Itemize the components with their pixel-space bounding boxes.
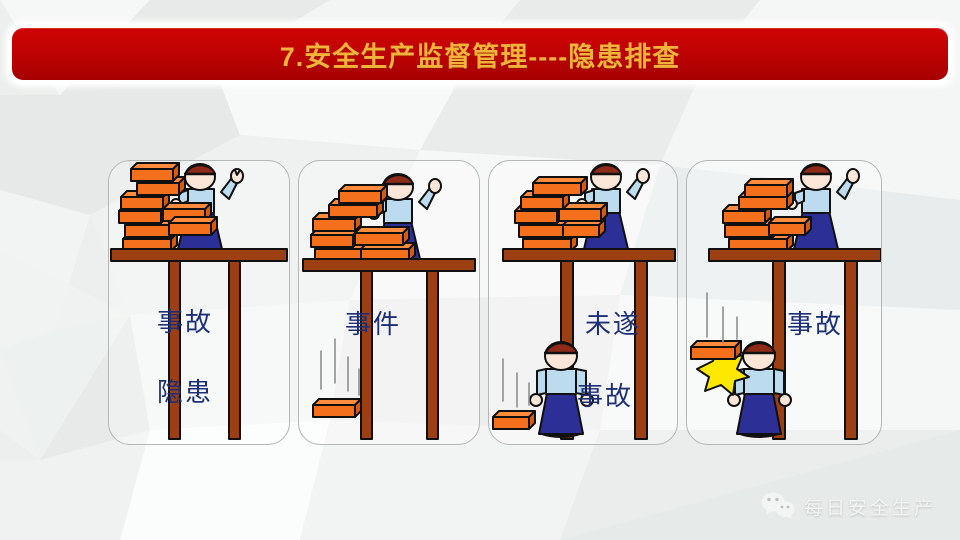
- page-title: 7.安全生产监督管理----隐患排查: [280, 35, 680, 74]
- falling-brick: [691, 341, 741, 359]
- title-banner: 7.安全生产监督管理----隐患排查: [8, 24, 952, 84]
- caption-accident: 事故: [787, 311, 843, 337]
- worker-on-table: [787, 164, 859, 253]
- falling-brick: [493, 411, 535, 429]
- caption-near-miss-line1: 未遂: [585, 311, 641, 337]
- motion-lines: [503, 359, 529, 407]
- wechat-icon: [761, 492, 795, 520]
- panel-hazard[interactable]: 事故 隐患: [108, 160, 290, 445]
- panel-near-miss[interactable]: 未遂 事故: [488, 160, 678, 445]
- panel-row: 事故 隐患: [0, 160, 960, 445]
- motion-lines: [707, 293, 737, 343]
- caption-incident: 事件: [345, 311, 401, 337]
- caption-near-miss-line2: 事故: [577, 383, 633, 409]
- panel-incident[interactable]: 事件: [298, 160, 480, 445]
- motion-lines: [321, 339, 359, 395]
- falling-brick: [313, 399, 361, 417]
- watermark-label: 每日安全生产: [804, 493, 936, 520]
- panel-accident[interactable]: 事故: [686, 160, 882, 445]
- watermark: 每日安全生产: [761, 492, 936, 520]
- caption-hazard-line1: 事故: [157, 309, 213, 335]
- illustration-accident: [687, 161, 881, 444]
- caption-hazard-line2: 隐患: [157, 379, 213, 405]
- title-banner-inner: 7.安全生产监督管理----隐患排查: [12, 28, 948, 80]
- illustration-incident: [299, 161, 479, 444]
